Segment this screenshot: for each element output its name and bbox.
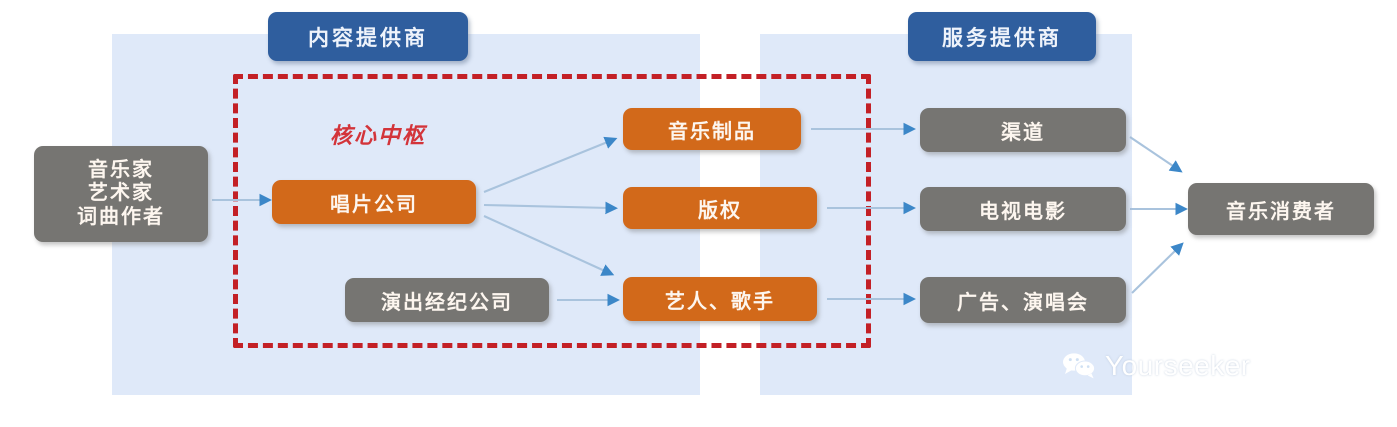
node-channel[interactable]: 渠道 — [920, 108, 1126, 152]
arrow-channel-to-consumer — [1130, 137, 1176, 168]
node-performance-agency-text: 演出经纪公司 — [381, 286, 513, 315]
arrow-record-label-to-copyright — [484, 205, 610, 208]
node-record-label[interactable]: 唱片公司 — [272, 180, 476, 224]
node-tv-film-text: 电视电影 — [979, 195, 1067, 224]
node-copyright[interactable]: 版权 — [623, 187, 817, 229]
node-music-consumer[interactable]: 音乐消费者 — [1188, 183, 1374, 235]
wechat-icon — [1062, 352, 1096, 380]
node-artists[interactable]: 音乐家 艺术家 词曲作者 — [34, 146, 208, 242]
node-artist-singer[interactable]: 艺人、歌手 — [623, 277, 817, 321]
node-artists-line-3: 词曲作者 — [77, 206, 165, 230]
watermark: Yourseeker — [1062, 350, 1251, 382]
node-music-consumer-text: 音乐消费者 — [1226, 195, 1336, 224]
arrow-record-label-to-music-products — [484, 141, 610, 192]
node-copyright-text: 版权 — [698, 194, 742, 223]
node-music-products-text: 音乐制品 — [668, 115, 756, 144]
node-channel-text: 渠道 — [1001, 116, 1045, 145]
node-artist-singer-text: 艺人、歌手 — [665, 285, 775, 314]
diagram-canvas: 内容提供商 服务提供商 核心中枢 — [0, 0, 1397, 427]
node-artists-line-2: 艺术家 — [77, 182, 165, 206]
node-ad-concert[interactable]: 广告、演唱会 — [920, 277, 1126, 323]
node-music-products[interactable]: 音乐制品 — [623, 108, 801, 150]
node-artists-line-1: 音乐家 — [77, 159, 165, 183]
node-record-label-text: 唱片公司 — [330, 188, 418, 217]
arrow-ad-concert-to-consumer — [1132, 248, 1178, 293]
node-ad-concert-text: 广告、演唱会 — [957, 286, 1089, 315]
node-tv-film[interactable]: 电视电影 — [920, 187, 1126, 231]
watermark-text: Yourseeker — [1105, 350, 1251, 382]
arrow-record-label-to-artist-singer — [484, 216, 607, 272]
node-performance-agency[interactable]: 演出经纪公司 — [345, 278, 549, 322]
